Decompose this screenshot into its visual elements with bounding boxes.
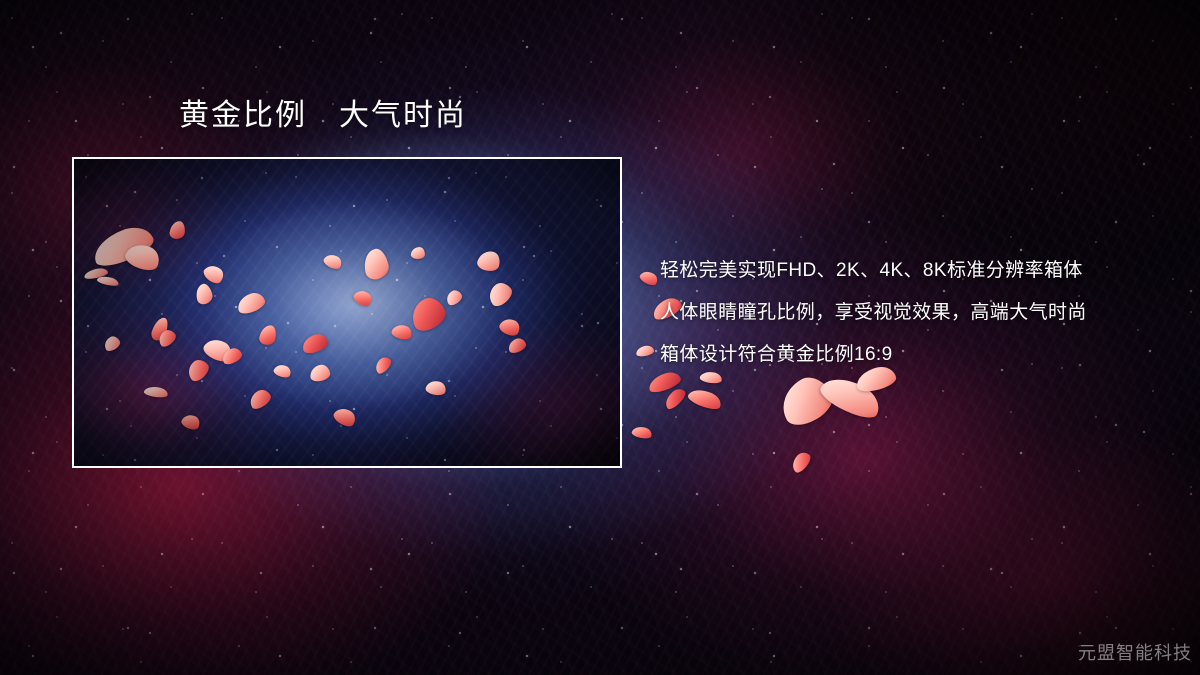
panel-vignette — [74, 159, 620, 466]
slide-title: 黄金比例 大气时尚 — [179, 101, 467, 131]
body-line-1: 轻松完美实现FHD、2K、4K、8K标准分辨率箱体 — [660, 258, 1180, 283]
body-line-3: 箱体设计符合黄金比例16:9 — [660, 342, 1180, 367]
body-copy: 轻松完美实现FHD、2K、4K、8K标准分辨率箱体 人体眼睛瞳孔比例，享受视觉效… — [660, 258, 1180, 367]
image-panel — [72, 157, 622, 468]
watermark: 元盟智能科技 — [1078, 639, 1192, 665]
slide-canvas: 黄金比例 大气时尚 — [0, 0, 1200, 675]
body-line-2: 人体眼睛瞳孔比例，享受视觉效果，高端大气时尚 — [660, 300, 1180, 325]
